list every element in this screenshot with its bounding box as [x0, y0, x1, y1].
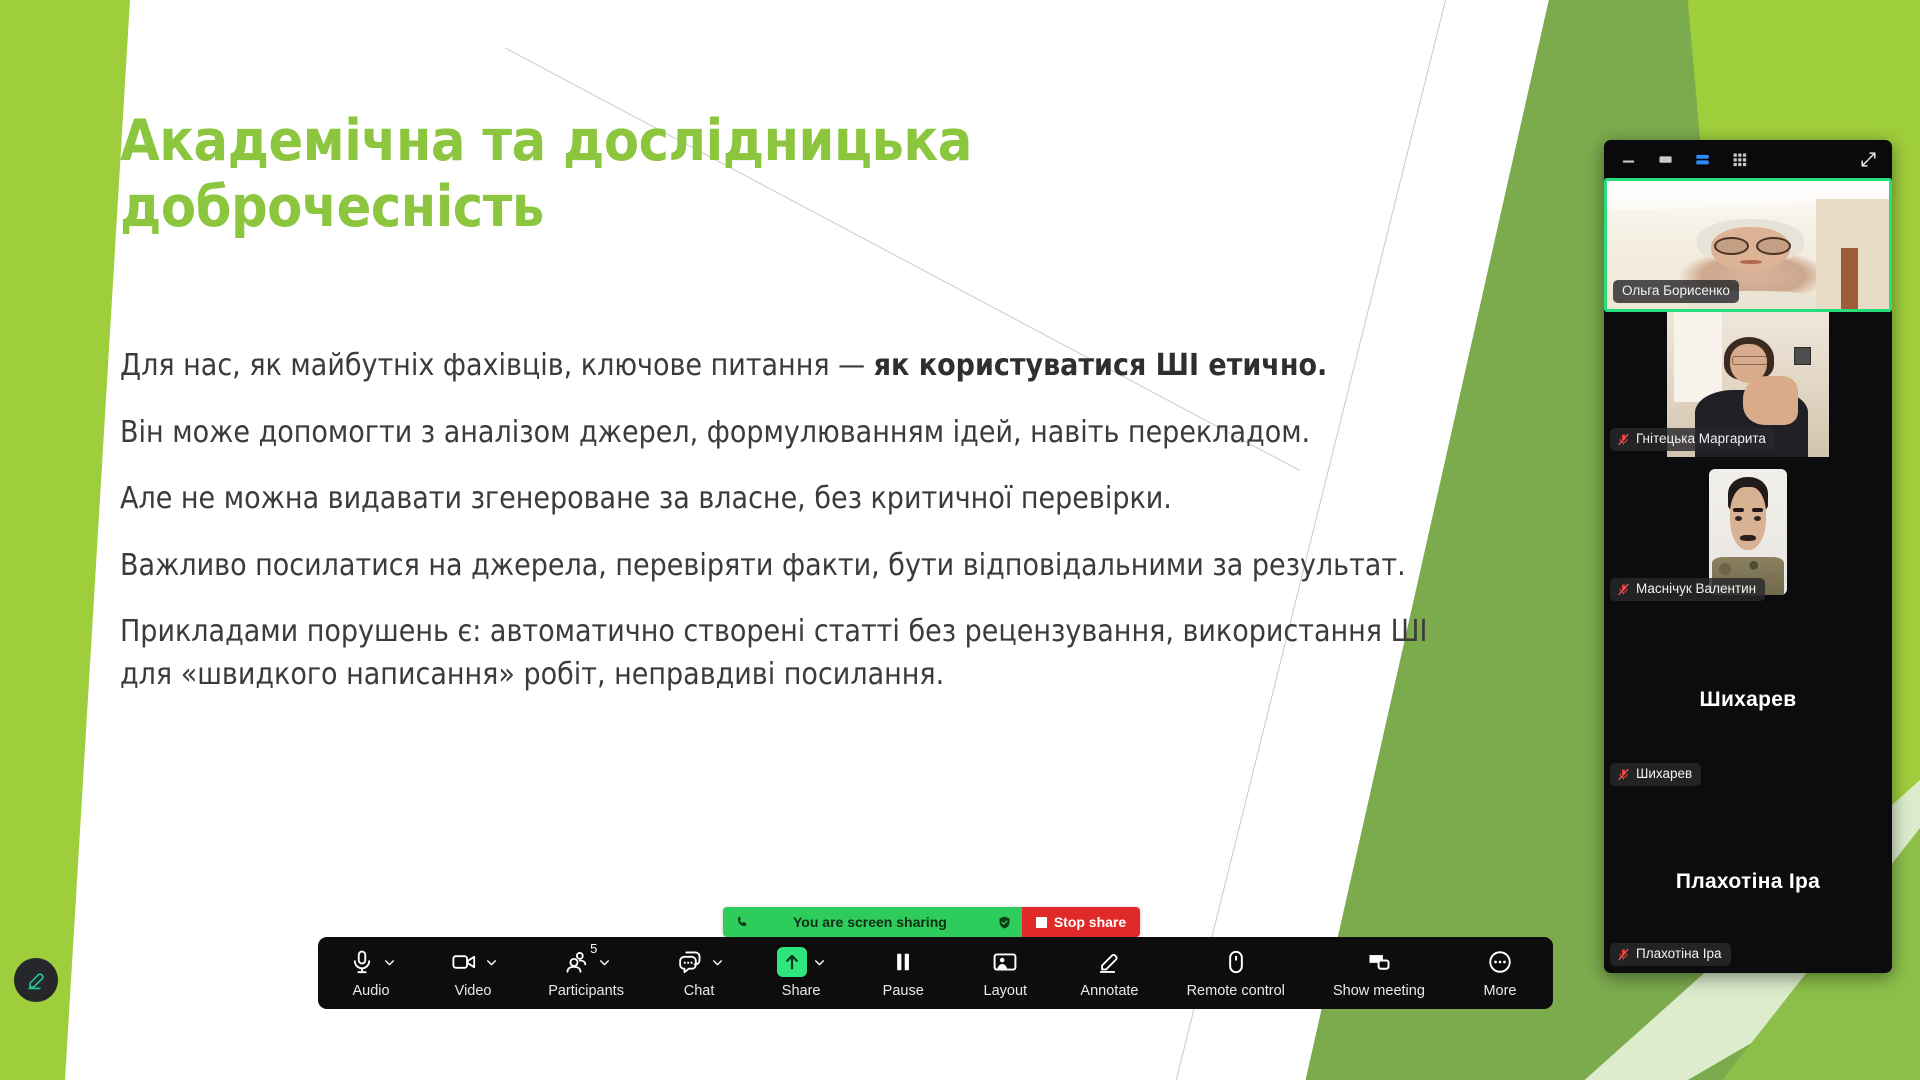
- toolbar-icon-row: [347, 947, 396, 977]
- slide-paragraph: Прикладами порушень є: автоматично створ…: [120, 611, 1440, 696]
- toolbar-icon-slot: [675, 948, 705, 976]
- slide-paragraph: Важливо посилатися на джерела, перевірят…: [120, 545, 1440, 588]
- toolbar-icon-row: [675, 947, 724, 977]
- participants-icon: [564, 949, 590, 975]
- toolbar-icon-row: [777, 947, 826, 977]
- participant-name-label: Плахотіна Іра: [1636, 946, 1722, 962]
- gallery-view-button[interactable]: [1731, 151, 1748, 168]
- toolbar-button-label: Chat: [684, 984, 715, 999]
- participant-tile[interactable]: Гнітецька Маргарита: [1604, 312, 1892, 457]
- windows-icon: [1366, 949, 1392, 975]
- slide-paragraph: Він може допомогти з аналізом джерел, фо…: [120, 412, 1440, 455]
- stop-share-label: Stop share: [1054, 914, 1126, 930]
- expand-button[interactable]: [1859, 150, 1878, 169]
- screen-sharing-banner: You are screen sharing Stop share: [723, 907, 1140, 937]
- participant-name-label: Маснічук Валентин: [1636, 581, 1756, 597]
- toolbar-button-label: More: [1483, 984, 1516, 999]
- toolbar-button-participants[interactable]: 5Participants: [548, 947, 624, 999]
- participant-tile[interactable]: Плахотіна ІраПлахотіна Іра: [1604, 792, 1892, 972]
- slide-body-text: Для нас, як майбутніх фахівців, ключове …: [120, 345, 1440, 721]
- participants-count-badge: 5: [590, 942, 597, 955]
- toolbar-icon-row: [1485, 947, 1515, 977]
- expand-icon: [1859, 150, 1878, 169]
- microphone-icon: [349, 949, 375, 975]
- toolbar-icon-row: [1094, 947, 1124, 977]
- participant-tile[interactable]: ШихаревШихарев: [1604, 607, 1892, 792]
- toolbar-button-label: Show meeting: [1333, 984, 1425, 999]
- minimize-button[interactable]: [1620, 151, 1637, 168]
- toolbar-button-video[interactable]: Video: [446, 947, 500, 999]
- toolbar-button-label: Annotate: [1080, 984, 1138, 999]
- stop-share-button[interactable]: Stop share: [1022, 907, 1140, 937]
- sharing-status: You are screen sharing: [723, 907, 1022, 937]
- toolbar-icon-slot: [990, 948, 1020, 976]
- participant-nametag: Гнітецька Маргарита: [1610, 428, 1775, 451]
- muted-microphone-icon: [1617, 583, 1630, 596]
- toolbar-button-label: Remote control: [1187, 984, 1285, 999]
- chevron-down-icon[interactable]: [711, 956, 724, 969]
- pencil-icon: [1096, 949, 1122, 975]
- toolbar-icon-slot: [449, 948, 479, 976]
- toolbar-icon-slot: [1221, 948, 1251, 976]
- participant-display-name-large: Шихарев: [1604, 688, 1892, 712]
- mouse-icon: [1223, 949, 1249, 975]
- video-frame: [1709, 469, 1786, 595]
- pencil-icon: [24, 968, 48, 992]
- share-highlight-square: [777, 947, 807, 977]
- toolbar-icon-slot: [347, 948, 377, 976]
- toolbar-icon-row: [990, 947, 1020, 977]
- toolbar-button-label: Participants: [548, 984, 624, 999]
- annotate-pen-button[interactable]: [14, 958, 58, 1002]
- toolbar-button-annotate[interactable]: Annotate: [1080, 947, 1138, 999]
- toolbar-button-pause[interactable]: Pause: [876, 947, 930, 999]
- toolbar-icon-slot: [562, 948, 592, 976]
- toolbar-button-label: Layout: [984, 984, 1028, 999]
- toolbar-icon-row: [1364, 947, 1394, 977]
- chat-bubble-icon: [677, 949, 703, 975]
- chevron-down-icon[interactable]: [598, 956, 611, 969]
- toolbar-button-audio[interactable]: Audio: [344, 947, 398, 999]
- page-title: Академічна та дослідницька доброчесність: [120, 108, 1080, 240]
- toolbar-icon-slot: [1094, 948, 1124, 976]
- single-view-icon: [1657, 151, 1674, 168]
- stop-square-icon: [1036, 917, 1047, 928]
- muted-microphone-icon: [1617, 433, 1630, 446]
- gallery-view-icon: [1731, 151, 1748, 168]
- participant-nametag: Шихарев: [1610, 763, 1701, 786]
- zoom-participant-panel: Ольга БорисенкоГнітецька МаргаритаМасніч…: [1604, 140, 1892, 973]
- speaker-view-button[interactable]: [1694, 151, 1711, 168]
- participant-tile[interactable]: Ольга Борисенко: [1604, 178, 1892, 312]
- toolbar-icon-row: [562, 947, 611, 977]
- speaker-view-icon: [1694, 151, 1711, 168]
- participant-nametag: Ольга Борисенко: [1613, 280, 1739, 303]
- toolbar-button-label: Video: [455, 984, 492, 999]
- layout-icon: [992, 949, 1018, 975]
- slide-paragraph-emphasis: як користуватися ШІ етично.: [874, 348, 1328, 383]
- muted-microphone-icon: [1617, 948, 1630, 961]
- toolbar-button-label: Share: [782, 984, 821, 999]
- single-view-button[interactable]: [1657, 151, 1674, 168]
- participant-nametag: Маснічук Валентин: [1610, 578, 1765, 601]
- slide-paragraph: Для нас, як майбутніх фахівців, ключове …: [120, 345, 1440, 388]
- toolbar-button-share[interactable]: Share: [774, 947, 828, 999]
- zoom-panel-header: [1604, 140, 1892, 178]
- ellipsis-circle-icon: [1487, 949, 1513, 975]
- chevron-down-icon[interactable]: [813, 956, 826, 969]
- chevron-down-icon[interactable]: [485, 956, 498, 969]
- participant-tile[interactable]: Маснічук Валентин: [1604, 457, 1892, 607]
- participant-name-label: Шихарев: [1636, 766, 1692, 782]
- chevron-down-icon[interactable]: [383, 956, 396, 969]
- toolbar-icon-slot: [1364, 948, 1394, 976]
- shield-check-icon: [997, 915, 1012, 930]
- minimize-icon: [1620, 151, 1637, 168]
- participant-display-name-large: Плахотіна Іра: [1604, 870, 1892, 894]
- slide-paragraph: Але не можна видавати згенероване за вла…: [120, 478, 1440, 521]
- participant-name-label: Ольга Борисенко: [1622, 283, 1730, 299]
- pause-icon: [890, 949, 916, 975]
- toolbar-button-label: Audio: [352, 984, 389, 999]
- toolbar-button-chat[interactable]: Chat: [672, 947, 726, 999]
- toolbar-button-remote-control[interactable]: Remote control: [1187, 947, 1285, 999]
- toolbar-icon-row: [888, 947, 918, 977]
- video-camera-icon: [451, 949, 477, 975]
- toolbar-icon-slot: [1485, 948, 1515, 976]
- participant-name-label: Гнітецька Маргарита: [1636, 431, 1766, 447]
- toolbar-icon-row: [449, 947, 498, 977]
- phone-icon: [735, 915, 749, 929]
- muted-microphone-icon: [1617, 768, 1630, 781]
- toolbar-button-show-meeting[interactable]: Show meeting: [1333, 947, 1425, 999]
- zoom-control-toolbar: AudioVideo5ParticipantsChatSharePauseLay…: [318, 937, 1553, 1009]
- participant-nametag: Плахотіна Іра: [1610, 943, 1731, 966]
- toolbar-icon-row: [1221, 947, 1251, 977]
- share-arrow-icon: [782, 952, 802, 972]
- toolbar-button-layout[interactable]: Layout: [978, 947, 1032, 999]
- toolbar-button-label: Pause: [883, 984, 924, 999]
- toolbar-icon-slot: [777, 948, 807, 976]
- toolbar-button-more[interactable]: More: [1473, 947, 1527, 999]
- sharing-status-text: You are screen sharing: [757, 914, 989, 930]
- toolbar-icon-slot: [888, 948, 918, 976]
- participant-tile-list: Ольга БорисенкоГнітецька МаргаритаМасніч…: [1604, 178, 1892, 973]
